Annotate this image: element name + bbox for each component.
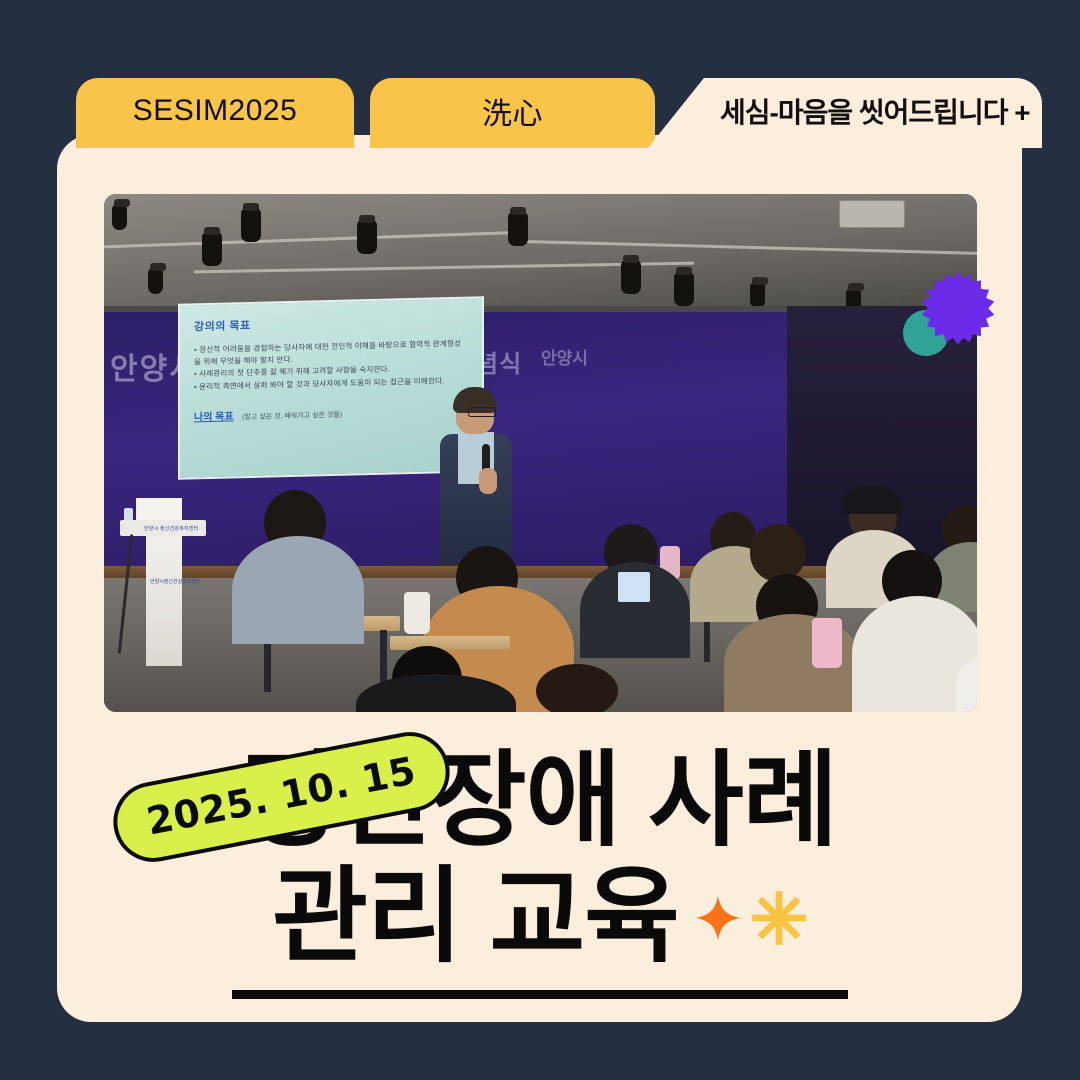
podium-logo-text: 안양시정신건강복지센터 [150, 578, 201, 585]
spotlight-icon [750, 282, 765, 308]
title-underline [232, 990, 848, 999]
spotlight-icon [508, 212, 528, 246]
event-photo: 안양시 념식 안양시 강의의 목표 • 정신적 어려움을 경험하는 당사자에 대… [104, 194, 977, 712]
tumbler [812, 618, 842, 668]
slide-heading: 강의의 목표 [194, 312, 468, 335]
audience-body [232, 536, 364, 644]
desk [390, 636, 510, 650]
speaker-person [434, 390, 520, 565]
tab-hanja[interactable]: 洗心 [370, 78, 655, 148]
tab-tagline[interactable]: 세심-마음을 씻어드립니다 + [648, 78, 1042, 148]
mic-stand [118, 534, 134, 654]
spotlight-icon [674, 272, 694, 306]
four-point-sparkle-icon [695, 892, 741, 944]
tab-hanja-label: 洗心 [482, 89, 543, 133]
spotlight-icon [112, 204, 127, 230]
tumbler [404, 592, 430, 634]
tab-bar: SESIM2025 洗心 세심-마음을 씻어드립니다 + [0, 0, 1080, 145]
spotlight-icon [241, 208, 261, 242]
tab-sesim2025[interactable]: SESIM2025 [76, 78, 354, 148]
asterisk-starburst-icon [751, 890, 807, 946]
spotlight-icon [357, 220, 377, 254]
title-line-2-row: 관리 교육 [57, 859, 1022, 975]
purple-starburst-badge [921, 272, 995, 346]
content-card: 안양시 념식 안양시 강의의 목표 • 정신적 어려움을 경험하는 당사자에 대… [57, 135, 1022, 1022]
backdrop-logo: 안양시 [541, 344, 588, 369]
photo-scene: 안양시 념식 안양시 강의의 목표 • 정신적 어려움을 경험하는 당사자에 대… [104, 194, 977, 712]
spotlight-icon [202, 232, 222, 266]
projector [839, 200, 905, 228]
handout-paper [618, 572, 650, 602]
podium-board-text: 안양시 정신건강복지센터 [144, 525, 198, 532]
slide-subnote: (알고 싶은 것, 배워가고 싶은 것들) [242, 411, 342, 420]
title-line-2: 관리 교육 [272, 859, 679, 975]
speaker-hand [479, 468, 497, 494]
audience-head [536, 664, 618, 712]
spotlight-icon [621, 260, 641, 294]
spotlight-icon [148, 268, 163, 294]
tab-tagline-label: 세심-마음을 씻어드립니다 + [720, 91, 1030, 131]
audience-hair [750, 524, 806, 582]
cap-icon [841, 486, 903, 514]
slide-subheading: 나의 목표 [194, 407, 234, 423]
tab-sesim2025-label: SESIM2025 [133, 94, 298, 128]
glasses-icon [468, 407, 496, 417]
decor-badge [903, 272, 995, 364]
podium-body [146, 536, 182, 666]
sparkle-group [695, 890, 807, 946]
podium: 안양시 정신건강복지센터 안양시정신건강복지센터 [120, 494, 206, 674]
slide-sub-row: 나의 목표 (알고 싶은 것, 배워가고 싶은 것들) [194, 387, 468, 425]
